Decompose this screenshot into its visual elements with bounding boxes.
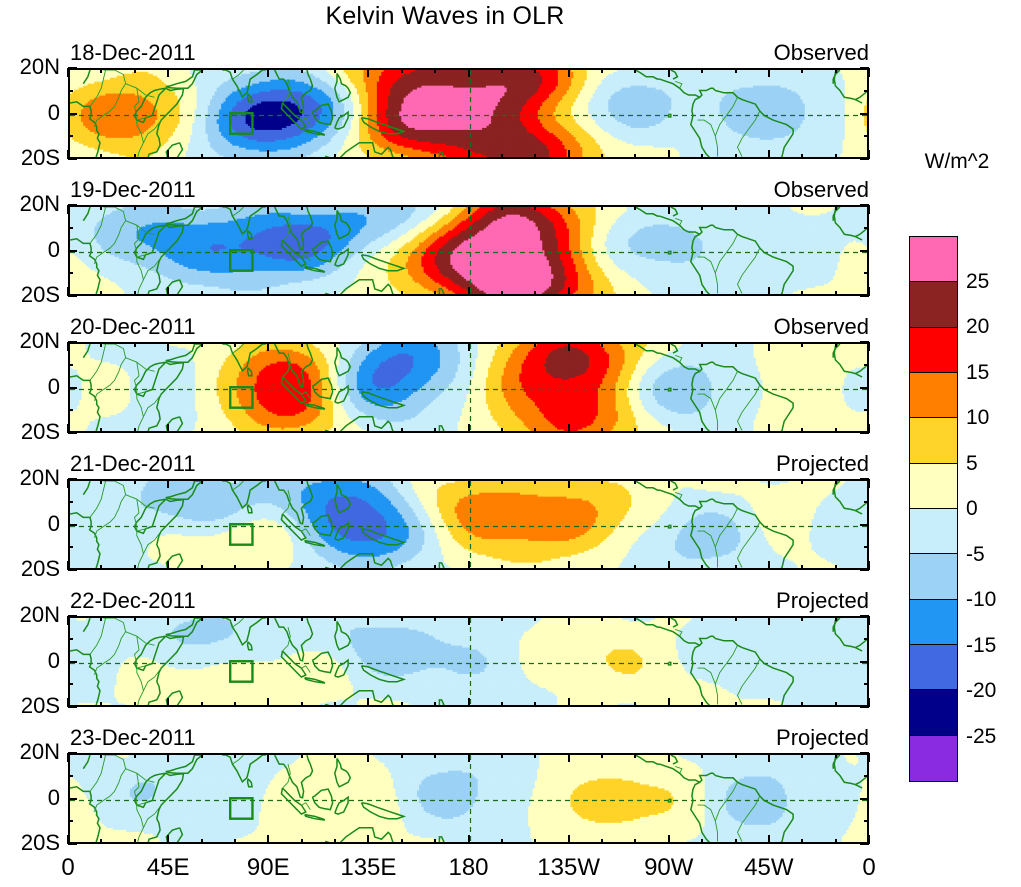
colorbar-tick-label: -25 [966,725,996,749]
y-axis-label: 20S [0,693,60,719]
map-plot-area[interactable] [68,205,869,296]
colorbar-tick-label: 5 [966,452,978,476]
panel-status-label: Observed [774,177,869,203]
colorbar-band-1 [910,282,957,327]
colorbar-tick-label: 15 [966,361,989,385]
colorbar-tick-label: 0 [966,497,978,521]
map-plot-area[interactable] [68,68,869,159]
x-axis-tick-label: 0 [61,854,74,882]
panel-status-label: Observed [774,40,869,66]
colorbar-band-7 [910,554,957,599]
colorbar-band-8 [910,600,957,645]
y-axis-label: 0 [0,374,60,400]
panel-date-label: 21-Dec-2011 [70,451,196,477]
x-axis-tick-label: 90E [247,854,290,882]
colorbar-tick-label: -20 [966,679,996,703]
colorbar-tick-label: 20 [966,315,989,339]
panel-date-label: 20-Dec-2011 [70,314,196,340]
y-axis-label: 20S [0,282,60,308]
map-panel-1: 18-Dec-2011Observed [68,68,869,159]
panel-status-label: Projected [776,725,869,751]
panel-status-label: Observed [774,314,869,340]
x-axis: 045E90E135E180135W90W45W0 [68,844,869,878]
y-axis-label: 20N [0,54,60,80]
colorbar-band-10 [910,690,957,735]
y-axis-label: 20S [0,145,60,171]
map-panel-3: 20-Dec-2011Observed [68,342,869,433]
colorbar-band-5 [910,464,957,509]
map-plot-area[interactable] [68,342,869,433]
y-axis-label: 20N [0,465,60,491]
map-panel-2: 19-Dec-2011Observed [68,205,869,296]
panel-date-label: 23-Dec-2011 [70,725,196,751]
y-axis-label: 20N [0,739,60,765]
colorbar-tick-label: 25 [966,270,989,294]
colorbar-band-2 [910,328,957,373]
y-axis-label: 0 [0,648,60,674]
y-axis-label: 20N [0,602,60,628]
x-axis-tick-label: 135W [537,854,600,882]
map-panel-6: 23-Dec-2011Projected [68,753,869,844]
y-axis-label: 20S [0,419,60,445]
colorbar-band-0 [910,237,957,282]
panel-date-label: 19-Dec-2011 [70,177,196,203]
x-axis-tick-label: 90W [644,854,693,882]
colorbar-tick-label: -10 [966,588,996,612]
x-axis-tick-label: 45E [147,854,190,882]
y-axis-label: 0 [0,785,60,811]
y-axis-label: 20N [0,328,60,354]
colorbar-band-4 [910,418,957,463]
x-axis-tick-label: 180 [448,854,488,882]
y-axis-label: 20S [0,556,60,582]
colorbar-tick-label: -5 [966,543,985,567]
colorbar-units-label: W/m^2 [902,150,1012,174]
panel-status-label: Projected [776,588,869,614]
colorbar[interactable] [909,236,958,782]
map-panel-4: 21-Dec-2011Projected [68,479,869,570]
colorbar-tick-label: 10 [966,406,989,430]
x-axis-tick-label: 0 [862,854,875,882]
map-plot-area[interactable] [68,616,869,707]
y-axis-label: 0 [0,100,60,126]
colorbar-tick-label: -15 [966,634,996,658]
y-axis-label: 0 [0,511,60,537]
panel-date-label: 18-Dec-2011 [70,40,196,66]
x-axis-tick-label: 45W [744,854,793,882]
y-axis-label: 20S [0,830,60,856]
x-axis-tick-label: 135E [340,854,396,882]
map-plot-area[interactable] [68,753,869,844]
y-axis-label: 0 [0,237,60,263]
y-axis-label: 20N [0,191,60,217]
colorbar-band-11 [910,736,957,781]
map-plot-area[interactable] [68,479,869,570]
colorbar-band-9 [910,645,957,690]
panel-date-label: 22-Dec-2011 [70,588,196,614]
page-title: Kelvin Waves in OLR [0,2,890,31]
colorbar-band-3 [910,373,957,418]
panel-status-label: Projected [776,451,869,477]
map-panel-5: 22-Dec-2011Projected [68,616,869,707]
colorbar-band-6 [910,509,957,554]
